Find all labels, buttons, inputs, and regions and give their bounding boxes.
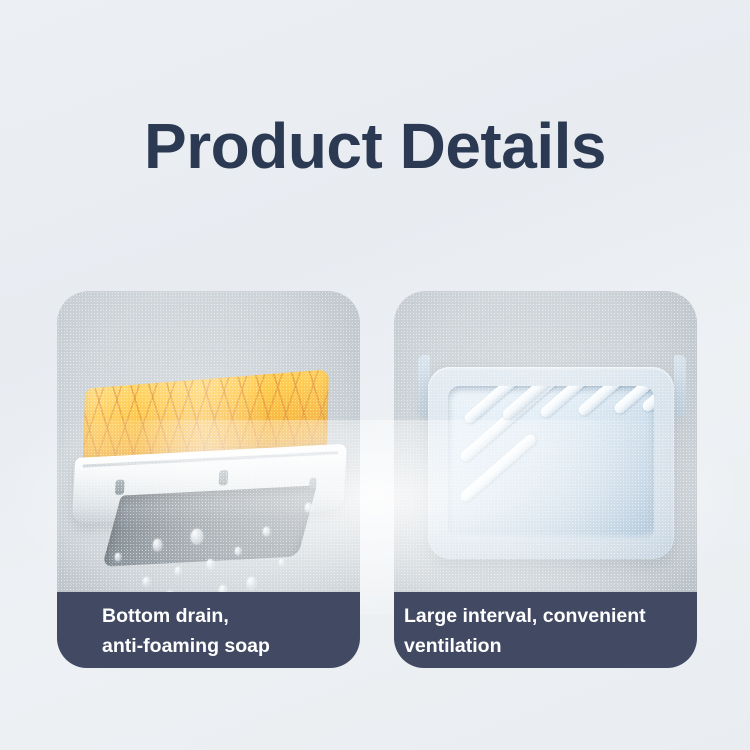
caption-line-2: ventilation (394, 631, 697, 661)
page-title: Product Details (0, 110, 750, 182)
dish-side-tab (674, 355, 686, 417)
caption-line-2: anti-foaming soap (57, 631, 360, 661)
soap-dish-basin (448, 386, 654, 540)
soap-tray-assembly-illustration (68, 372, 350, 586)
clip-nub (219, 470, 229, 486)
product-details-page: Product Details (0, 0, 750, 750)
caption-bar-bottom-drain: Bottom drain, anti-foaming soap (57, 592, 360, 668)
clip-nub (309, 477, 317, 488)
caption-bar-large-interval: Large interval, convenient ventilation (394, 592, 697, 668)
soap-dish-body (428, 367, 674, 559)
caption-line-1: Bottom drain, (57, 601, 360, 631)
clip-nub (115, 479, 125, 495)
dish-underside-cavity (102, 485, 317, 566)
caption-line-1: Large interval, convenient (394, 601, 697, 631)
